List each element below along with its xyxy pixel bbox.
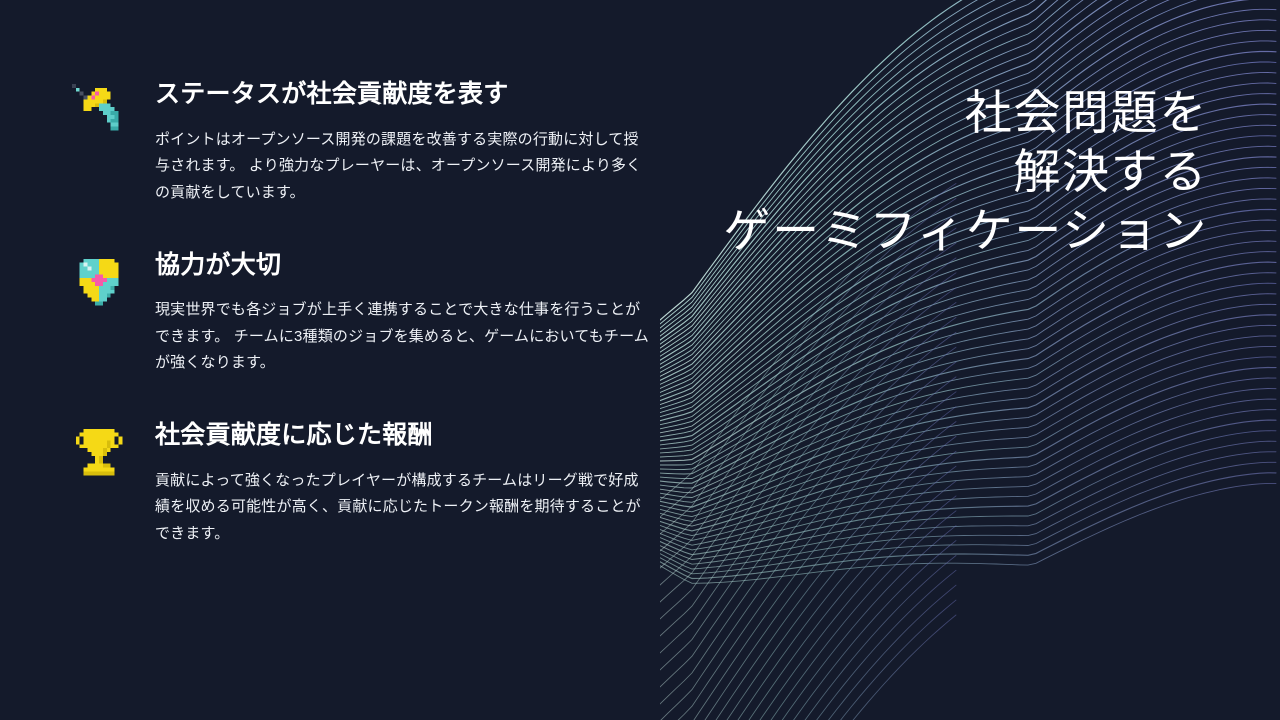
feature-body: 協力が大切 現実世界でも各ジョブが上手く連携することで大きな仕事を行うことができ… <box>155 249 668 378</box>
feature-item-reward: 社会貢献度に応じた報酬 貢献によって強くなったプレイヤーが構成するチームはリーグ… <box>68 419 668 548</box>
title-line-1: 社会問題を <box>648 84 1208 143</box>
feature-text: ポイントはオープンソース開発の課題を改善する実際の行動に対して授与されます。 よ… <box>155 127 650 207</box>
feature-list: ステータスが社会貢献度を表す ポイントはオープンソース開発の課題を改善する実際の… <box>68 78 668 548</box>
title-line-2: 解決する <box>648 143 1208 202</box>
feature-body: 社会貢献度に応じた報酬 貢献によって強くなったプレイヤーが構成するチームはリーグ… <box>155 419 668 548</box>
slide-title: 社会問題を 解決する ゲーミフィケーション <box>648 84 1208 260</box>
feature-item-cooperation: 協力が大切 現実世界でも各ジョブが上手く連携することで大きな仕事を行うことができ… <box>68 249 668 378</box>
feature-heading: ステータスが社会貢献度を表す <box>155 78 668 111</box>
shield-icon <box>68 251 130 313</box>
title-line-3: ゲーミフィケーション <box>648 202 1208 261</box>
feature-body: ステータスが社会貢献度を表す ポイントはオープンソース開発の課題を改善する実際の… <box>155 78 668 207</box>
feature-heading: 協力が大切 <box>155 249 668 282</box>
feature-heading: 社会貢献度に応じた報酬 <box>155 419 668 452</box>
dagger-icon <box>68 80 130 142</box>
feature-item-status: ステータスが社会貢献度を表す ポイントはオープンソース開発の課題を改善する実際の… <box>68 78 668 207</box>
feature-text: 現実世界でも各ジョブが上手く連携することで大きな仕事を行うことができます。 チー… <box>155 297 650 377</box>
trophy-icon <box>68 421 130 483</box>
feature-text: 貢献によって強くなったプレイヤーが構成するチームはリーグ戦で好成績を収める可能性… <box>155 468 650 548</box>
